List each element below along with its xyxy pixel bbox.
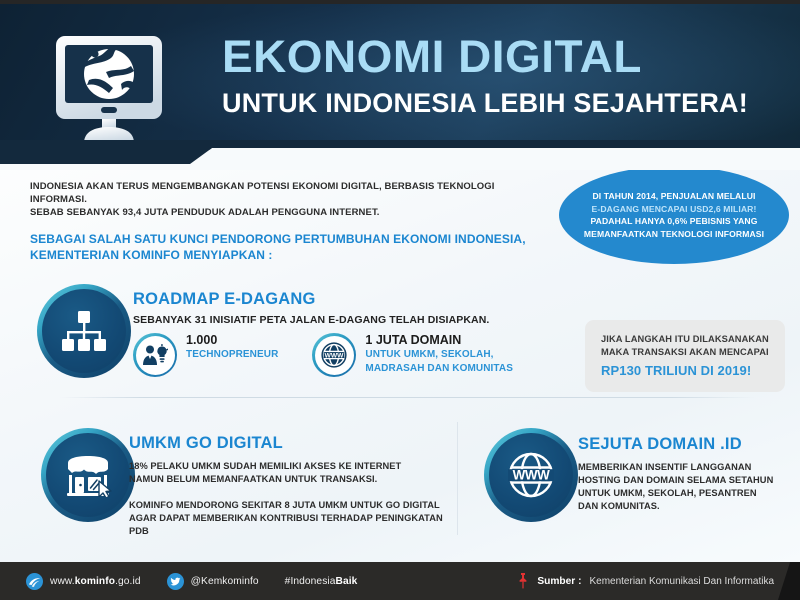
intro-line-1: INDONESIA AKAN TERUS MENGEMBANGKAN POTEN… xyxy=(30,180,530,206)
footer-corner-accent xyxy=(778,562,800,600)
footer-links: www.kominfo.go.id @Kemkominfo #Indonesia… xyxy=(26,562,383,600)
www-globe-icon: WWW xyxy=(315,336,354,375)
stat-domain: WWW 1 JUTA DOMAIN UNTUK UMKM, SEKOLAH, M… xyxy=(312,333,513,377)
section-divider-horizontal xyxy=(60,397,755,398)
sejuta-line-3: UNTUK UMKM, SEKOLAH, PESANTREN xyxy=(578,487,793,500)
umkm-p2-line-2: AGAR DAPAT MEMBERIKAN KONTRIBUSI TERHADA… xyxy=(129,512,459,538)
title-line-2: UNTUK INDONESIA LEBIH SEJAHTERA! xyxy=(222,87,767,119)
page-title: EKONOMI DIGITAL UNTUK INDONESIA LEBIH SE… xyxy=(222,32,767,119)
www-globe-icon: WWW xyxy=(489,433,573,517)
intro-line-2: SEBAB SEBANYAK 93,4 JUTA PENDUDUK ADALAH… xyxy=(30,206,530,219)
monitor-globe-icon xyxy=(44,31,174,146)
footer-source-value: Kementerian Komunikasi Dan Informatika xyxy=(589,576,774,587)
projection-highlight: RP130 TRILIUN DI 2019! xyxy=(601,362,769,380)
footer-hashtag-text: #IndonesiaBaik xyxy=(285,576,358,587)
sejuta-line-2: HOSTING DAN DOMAIN SELAMA SETAHUN xyxy=(578,474,793,487)
storefront-cursor-icon xyxy=(46,433,130,517)
umkm-p1-line-2: NAMUN BELUM MEMANFAATKAN UNTUK TRANSAKSI… xyxy=(129,473,459,486)
footer-twitter-text: @Kemkominfo xyxy=(191,576,259,587)
header-banner: EKONOMI DIGITAL UNTUK INDONESIA LEBIH SE… xyxy=(0,4,800,166)
projection-line-1: JIKA LANGKAH ITU DILAKSANAKAN xyxy=(601,333,769,347)
footer-source-label: Sumber : xyxy=(537,576,581,587)
technopreneur-badge xyxy=(133,333,177,377)
footer-website[interactable]: www.kominfo.go.id xyxy=(26,573,141,590)
umkm-text: UMKM GO DIGITAL 18% PELAKU UMKM SUDAH ME… xyxy=(129,434,459,538)
footer-bar: www.kominfo.go.id @Kemkominfo #Indonesia… xyxy=(0,562,800,600)
sejuta-text: SEJUTA DOMAIN .ID MEMBERIKAN INSENTIF LA… xyxy=(578,435,793,513)
stat-desc-1: UNTUK UMKM, SEKOLAH, xyxy=(365,348,513,362)
footer-website-text: www.kominfo.go.id xyxy=(50,576,141,587)
footer-source: Sumber : Kementerian Komunikasi Dan Info… xyxy=(517,562,774,600)
umkm-title: UMKM GO DIGITAL xyxy=(129,434,459,453)
pin-icon xyxy=(517,573,529,589)
footer-twitter[interactable]: @Kemkominfo xyxy=(167,573,259,590)
org-chart-icon xyxy=(42,289,126,373)
title-line-1: EKONOMI DIGITAL xyxy=(222,32,778,82)
oval-line-2: E-DAGANG MENCAPAI USD2,6 MILIAR! xyxy=(584,203,764,216)
svg-text:WWW: WWW xyxy=(325,352,344,359)
sejuta-line-1: MEMBERIKAN INSENTIF LANGGANAN xyxy=(578,461,793,474)
stat-label: 1 JUTA DOMAIN UNTUK UMKM, SEKOLAH, MADRA… xyxy=(365,333,513,375)
sejuta-line-4: DAN KOMUNITAS. xyxy=(578,500,793,513)
oval-line-1: DI TAHUN 2014, PENJUALAN MELALUI xyxy=(584,190,764,203)
svg-text:WWW: WWW xyxy=(513,467,550,482)
roadmap-title: ROADMAP E-DAGANG xyxy=(133,290,533,309)
roadmap-stats: 1.000 TECHNOPRENEUR xyxy=(133,333,513,377)
stat-number: 1.000 xyxy=(186,333,278,348)
domain-badge: WWW xyxy=(312,333,356,377)
stat-desc-2: MADRASAH DAN KOMUNITAS xyxy=(365,362,513,376)
intro-highlight-line-2: KEMENTERIAN KOMINFO MENYIAPKAN : xyxy=(30,248,530,264)
projection-line-2: MAKA TRANSAKSI AKAN MENCAPAI xyxy=(601,346,769,360)
umkm-p2-line-1: KOMINFO MENDORONG SEKITAR 8 JUTA UMKM UN… xyxy=(129,499,459,512)
stat-technopreneur: 1.000 TECHNOPRENEUR xyxy=(133,333,278,377)
stat-label: 1.000 TECHNOPRENEUR xyxy=(186,333,278,362)
projection-box: JIKA LANGKAH ITU DILAKSANAKAN MAKA TRANS… xyxy=(585,320,785,392)
oval-line-3: PADAHAL HANYA 0,6% PEBISNIS YANG xyxy=(584,215,764,228)
intro-highlight-line-1: SEBAGAI SALAH SATU KUNCI PENDORONG PERTU… xyxy=(30,232,530,248)
roadmap-subtitle: SEBANYAK 31 INISIATIF PETA JALAN E-DAGAN… xyxy=(133,313,533,327)
callout-oval: DI TAHUN 2014, PENJUALAN MELALUI E-DAGAN… xyxy=(559,166,789,264)
kominfo-logo-icon xyxy=(26,573,43,590)
footer-hashtag[interactable]: #IndonesiaBaik xyxy=(285,576,358,587)
infographic-poster: EKONOMI DIGITAL UNTUK INDONESIA LEBIH SE… xyxy=(0,0,800,600)
umkm-p1-line-1: 18% PELAKU UMKM SUDAH MEMILIKI AKSES KE … xyxy=(129,460,459,473)
roadmap-text: ROADMAP E-DAGANG SEBANYAK 31 INISIATIF P… xyxy=(133,290,533,327)
main-content: INDONESIA AKAN TERUS MENGEMBANGKAN POTEN… xyxy=(0,150,800,562)
intro-text: INDONESIA AKAN TERUS MENGEMBANGKAN POTEN… xyxy=(30,180,530,263)
oval-line-4: MEMANFAATKAN TEKNOLOGI INFORMASI xyxy=(584,228,764,241)
technopreneur-icon xyxy=(136,336,175,375)
twitter-icon xyxy=(167,573,184,590)
stat-desc-1: TECHNOPRENEUR xyxy=(186,348,278,362)
sejuta-title: SEJUTA DOMAIN .ID xyxy=(578,435,793,454)
stat-number: 1 JUTA DOMAIN xyxy=(365,333,513,348)
